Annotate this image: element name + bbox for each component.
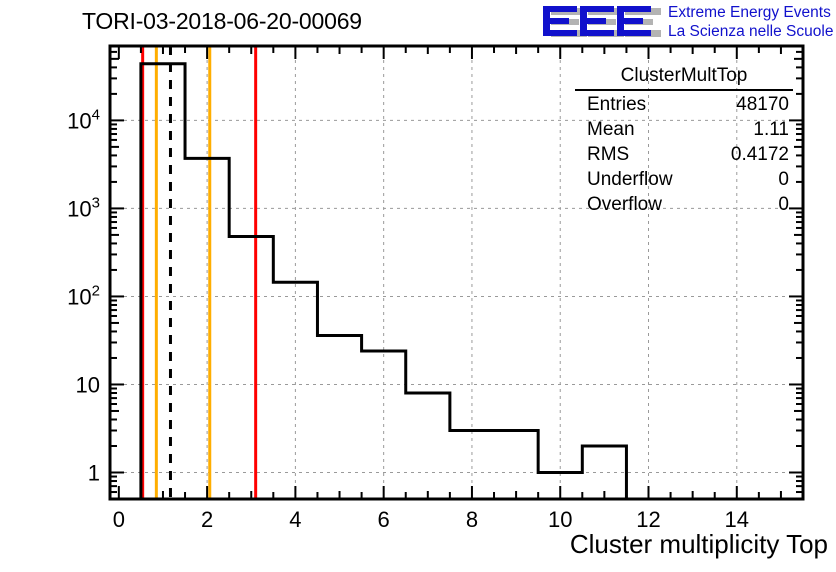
stats-row-label: RMS <box>587 142 629 167</box>
stats-row: Entries48170 <box>575 92 793 117</box>
y-tick-labels: 110102103104 <box>67 106 100 485</box>
stats-row-value: 0.4172 <box>731 142 789 167</box>
stats-title: ClusterMultTop <box>575 63 793 91</box>
y-tick-label: 104 <box>67 106 100 133</box>
stats-row: RMS0.4172 <box>575 142 793 167</box>
stats-row-value: 48170 <box>736 92 789 117</box>
stats-row-label: Mean <box>587 117 635 142</box>
x-tick-label: 6 <box>378 507 390 532</box>
y-tick-label: 103 <box>67 194 100 221</box>
x-tick-label: 2 <box>201 507 213 532</box>
y-tick-label: 102 <box>67 282 100 309</box>
marker-lines <box>143 46 256 499</box>
stats-row-label: Underflow <box>587 167 673 192</box>
x-tick-label: 4 <box>289 507 301 532</box>
stats-row-label: Entries <box>587 92 646 117</box>
stats-row-label: Overflow <box>587 192 662 217</box>
y-tick-label: 10 <box>76 372 100 397</box>
root-canvas: TORI-03-2018-06-20-00069 <box>0 0 836 572</box>
x-tick-label: 8 <box>466 507 478 532</box>
stats-row: Mean1.11 <box>575 117 793 142</box>
stats-row: Overflow0 <box>575 192 793 217</box>
x-axis-title: Cluster multiplicity Top <box>570 529 828 560</box>
stats-row-value: 0 <box>778 192 789 217</box>
stats-box: ClusterMultTop Entries48170Mean1.11RMS0.… <box>575 63 793 217</box>
stats-row-value: 0 <box>778 167 789 192</box>
stats-row: Underflow0 <box>575 167 793 192</box>
stats-rows: Entries48170Mean1.11RMS0.4172Underflow0O… <box>575 92 793 217</box>
x-tick-label: 0 <box>113 507 125 532</box>
stats-row-value: 1.11 <box>753 117 789 142</box>
x-tick-label: 10 <box>548 507 572 532</box>
y-tick-label: 1 <box>88 461 100 486</box>
